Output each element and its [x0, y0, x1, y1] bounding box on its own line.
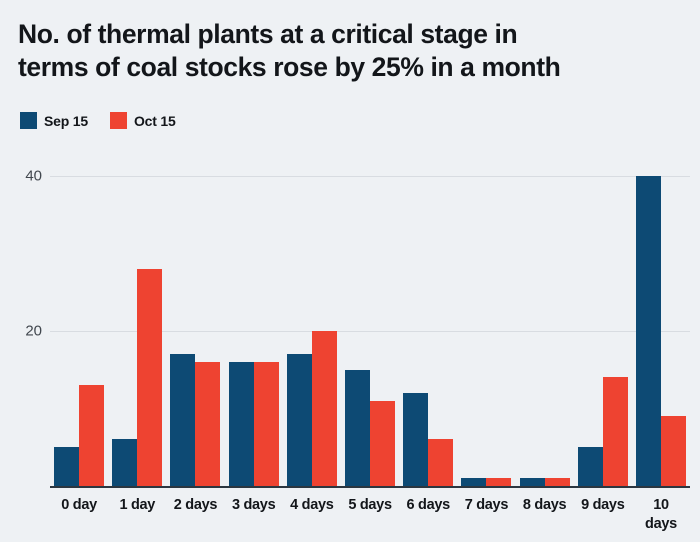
- x-tick-label: 4 days: [283, 496, 341, 534]
- bar-sep15[interactable]: [636, 176, 661, 486]
- bar-sep15[interactable]: [170, 354, 195, 486]
- y-axis-labels: 2040: [0, 160, 50, 490]
- legend-swatch-oct-icon: [110, 112, 127, 129]
- bar-sep15[interactable]: [520, 478, 545, 486]
- bar-group: [50, 160, 108, 486]
- x-tick-label: 10 days: [632, 496, 690, 534]
- bar-group: [108, 160, 166, 486]
- bar-oct15[interactable]: [370, 401, 395, 486]
- y-tick-label-40: 40: [25, 167, 42, 184]
- page-title: No. of thermal plants at a critical stag…: [18, 18, 682, 84]
- bar-oct15[interactable]: [137, 269, 162, 486]
- bar-group: [632, 160, 690, 486]
- legend-label-oct15: Oct 15: [134, 113, 176, 129]
- x-tick-label: 6 days: [399, 496, 457, 534]
- legend-label-sep15: Sep 15: [44, 113, 88, 129]
- bar-oct15[interactable]: [254, 362, 279, 486]
- x-tick-label: 2 days: [166, 496, 224, 534]
- bar-sep15[interactable]: [345, 370, 370, 486]
- legend-item-sep15: Sep 15: [20, 112, 88, 129]
- x-tick-label: 5 days: [341, 496, 399, 534]
- bar-oct15[interactable]: [428, 439, 453, 486]
- bar-sep15[interactable]: [287, 354, 312, 486]
- chart-page: No. of thermal plants at a critical stag…: [0, 0, 700, 542]
- x-tick-label: 9 days: [574, 496, 632, 534]
- x-axis-labels: 0 day1 day2 days3 days4 days5 days6 days…: [50, 496, 690, 534]
- bar-sep15[interactable]: [403, 393, 428, 486]
- bar-oct15[interactable]: [603, 377, 628, 486]
- bar-sep15[interactable]: [54, 447, 79, 486]
- x-tick-label: 1 day: [108, 496, 166, 534]
- bar-oct15[interactable]: [79, 385, 104, 486]
- x-tick-label: 3 days: [225, 496, 283, 534]
- bar-oct15[interactable]: [545, 478, 570, 486]
- chart-legend: Sep 15 Oct 15: [20, 112, 188, 129]
- bar-group: [516, 160, 574, 486]
- bar-group: [166, 160, 224, 486]
- bar-group: [574, 160, 632, 486]
- x-axis-baseline: [50, 486, 690, 488]
- bar-group: [457, 160, 515, 486]
- bar-sep15[interactable]: [578, 447, 603, 486]
- bar-sep15[interactable]: [229, 362, 254, 486]
- plot-area: 2040 0 day1 day2 days3 days4 days5 days6…: [0, 160, 700, 542]
- bar-oct15[interactable]: [195, 362, 220, 486]
- title-line-1: No. of thermal plants at a critical stag…: [18, 18, 682, 51]
- bar-group: [283, 160, 341, 486]
- bar-oct15[interactable]: [661, 416, 686, 486]
- y-tick-label-20: 20: [25, 322, 42, 339]
- bar-sep15[interactable]: [112, 439, 137, 486]
- bar-oct15[interactable]: [312, 331, 337, 486]
- bar-group: [341, 160, 399, 486]
- x-tick-label: 7 days: [457, 496, 515, 534]
- x-tick-label: 0 day: [50, 496, 108, 534]
- legend-item-oct15: Oct 15: [110, 112, 176, 129]
- x-tick-label: 8 days: [516, 496, 574, 534]
- legend-swatch-sep-icon: [20, 112, 37, 129]
- bar-oct15[interactable]: [486, 478, 511, 486]
- title-line-2: terms of coal stocks rose by 25% in a mo…: [18, 51, 682, 84]
- bar-sep15[interactable]: [461, 478, 486, 486]
- bar-group: [399, 160, 457, 486]
- bars-layer: [50, 160, 690, 486]
- bar-group: [225, 160, 283, 486]
